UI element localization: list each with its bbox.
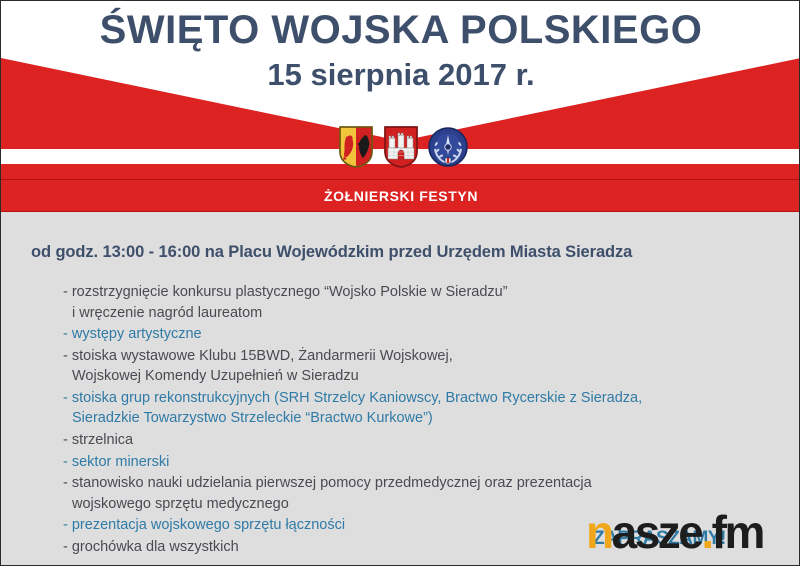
program-list-item: - rozstrzygnięcie konkursu plastycznego … [63,282,800,323]
watermark-part-n: n [586,506,612,558]
event-time-place: od godz. 13:00 - 16:00 na Placu Wojewódz… [1,212,800,262]
program-list-item: - strzelnica [63,430,800,451]
festival-band-label: ŻOŁNIERSKI FESTYN [324,188,478,204]
page-subtitle-date: 15 sierpnia 2017 r. [1,58,800,92]
watermark-part-fm: fm [712,506,763,558]
program-list-item: - występy artystyczne [63,324,800,345]
poster-header: ŚWIĘTO WOJSKA POLSKIEGO 15 sierpnia 2017… [1,1,800,179]
watermark-part-asze: asze [612,506,702,558]
program-list-item: - sektor minerski [63,452,800,473]
coat-of-arms-sieradz-city-icon [383,125,419,169]
festival-band: ŻOŁNIERSKI FESTYN [1,179,800,212]
program-list-item: - stoiska wystawowe Klubu 15BWD, Żandarm… [63,346,800,387]
title-block: ŚWIĘTO WOJSKA POLSKIEGO 15 sierpnia 2017… [1,9,800,92]
military-unit-emblem-icon [428,125,464,169]
poster-root: ŚWIĘTO WOJSKA POLSKIEGO 15 sierpnia 2017… [0,0,800,566]
program-list-item: - stoiska grup rekonstrukcyjnych (SRH St… [63,388,800,429]
coat-of-arms-sieradz-county-icon [338,125,374,169]
emblem-row [1,125,800,169]
page-title: ŚWIĘTO WOJSKA POLSKIEGO [1,9,800,52]
watermark-part-dot: . [701,506,711,558]
nasze-fm-watermark-logo: nasze.fm [586,509,763,555]
